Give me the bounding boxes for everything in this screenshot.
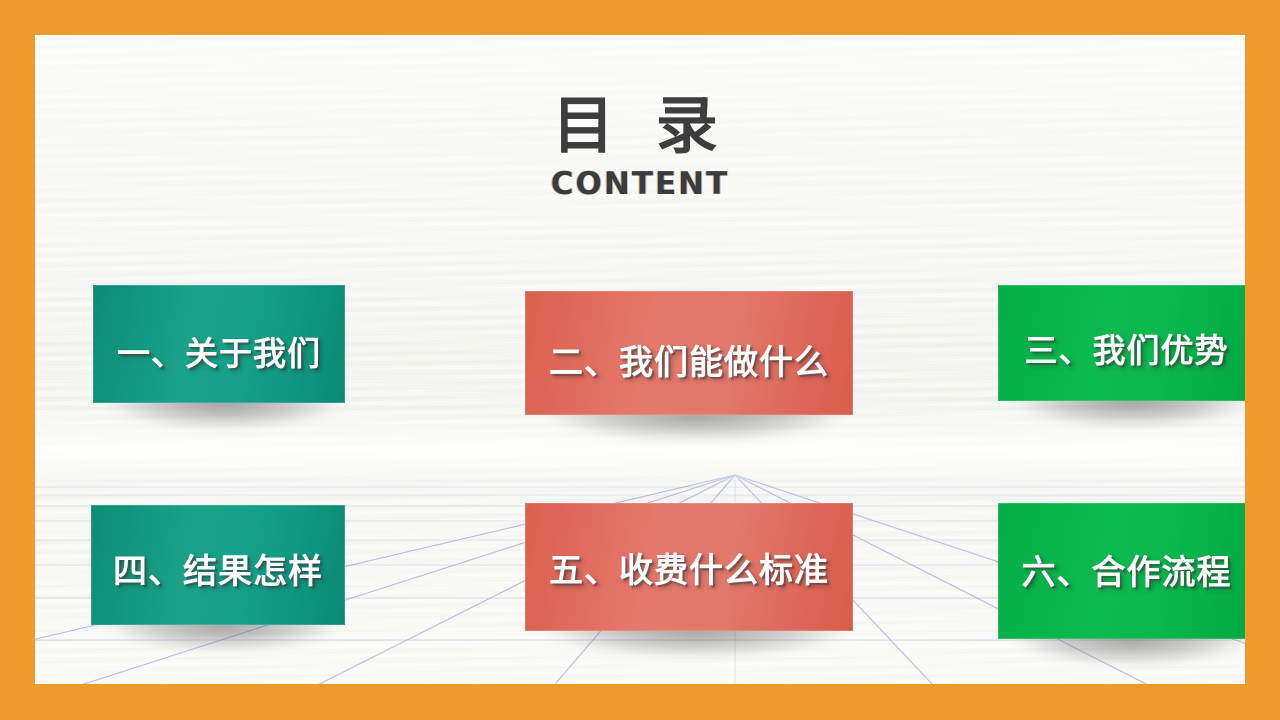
slide-content-panel: 目 录 CONTENT 一、关于我们 二、我们能做什么 三、我们优势 四	[35, 35, 1245, 684]
title-block: 目 录 CONTENT	[35, 93, 1245, 202]
agenda-card-label: 六、合作流程	[1022, 545, 1232, 594]
agenda-card-label: 二、我们能做什么	[549, 335, 829, 384]
card-surface: 三、我们优势	[998, 285, 1245, 401]
agenda-card-3[interactable]: 三、我们优势	[998, 285, 1245, 401]
card-surface: 四、结果怎样	[91, 505, 345, 625]
agenda-card-6[interactable]: 六、合作流程	[998, 503, 1245, 639]
card-surface: 六、合作流程	[998, 503, 1245, 639]
card-surface: 五、收费什么标准	[525, 503, 853, 631]
card-surface: 一、关于我们	[93, 285, 345, 403]
agenda-card-5[interactable]: 五、收费什么标准	[525, 503, 853, 631]
presentation-slide: 目 录 CONTENT 一、关于我们 二、我们能做什么 三、我们优势 四	[0, 0, 1280, 720]
agenda-card-2[interactable]: 二、我们能做什么	[525, 291, 853, 415]
page-title: 目 录	[35, 93, 1245, 158]
agenda-card-label: 五、收费什么标准	[549, 543, 829, 592]
page-subtitle: CONTENT	[35, 166, 1245, 202]
agenda-card-label: 三、我们优势	[1025, 324, 1229, 372]
agenda-card-label: 四、结果怎样	[113, 544, 323, 593]
card-surface: 二、我们能做什么	[525, 291, 853, 415]
agenda-card-label: 一、关于我们	[117, 327, 321, 375]
agenda-card-1[interactable]: 一、关于我们	[93, 285, 345, 403]
agenda-card-4[interactable]: 四、结果怎样	[91, 505, 345, 625]
